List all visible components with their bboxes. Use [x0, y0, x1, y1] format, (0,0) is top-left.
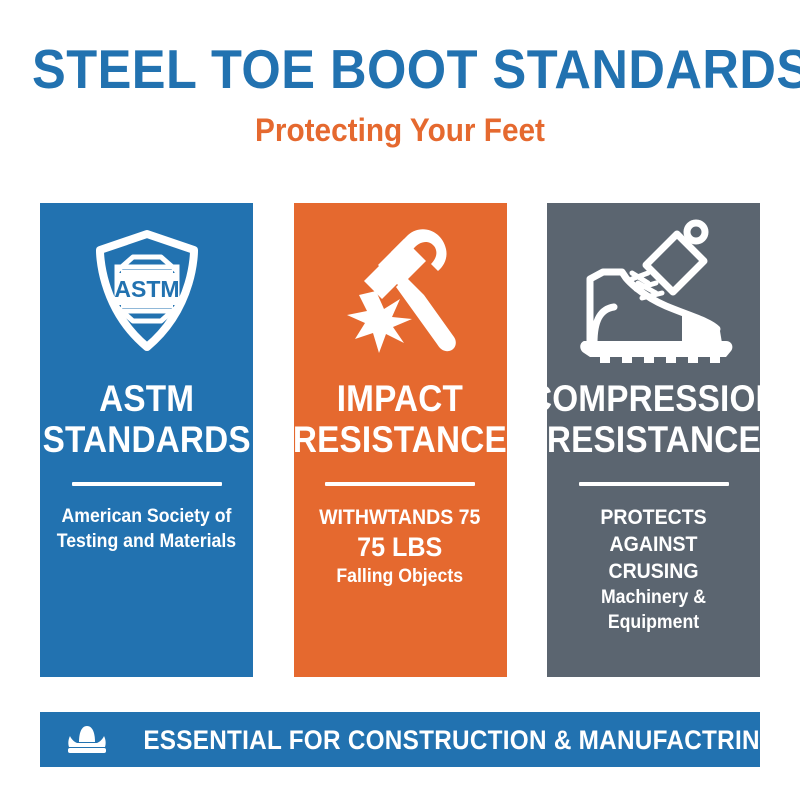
boot-weight-icon	[570, 217, 738, 365]
card-body-line: 75 LBS	[319, 531, 480, 564]
hammer-impact-icon	[334, 225, 466, 357]
card-heading: IMPACT RESISTANCE	[293, 378, 507, 460]
hard-hat-icon	[66, 724, 108, 756]
infographic-poster: STEEL TOE BOOT STANDARDS Protecting Your…	[0, 0, 800, 800]
card-astm-standards[interactable]: ASTM ASTM STANDARDS American Society of …	[40, 203, 253, 677]
card-heading: ASTM STANDARDS	[42, 378, 250, 460]
footer-banner: ESSENTIAL FOR CONSTRUCTION & MANUFACTRIN…	[40, 712, 760, 767]
card-body-line: American Society of Testing and Material…	[57, 504, 236, 554]
card-body: WITHWTANDS 75 75 LBS Falling Objects	[319, 504, 480, 589]
card-icon-slot	[304, 203, 497, 378]
card-body-line: Machinery & Equipment	[564, 585, 743, 635]
card-icon-slot	[557, 203, 750, 378]
card-icon-slot: ASTM	[50, 203, 243, 378]
card-body: PROTECTS AGAINST CRUSING Machinery & Equ…	[564, 504, 743, 635]
card-impact-resistance[interactable]: IMPACT RESISTANCE WITHWTANDS 75 75 LBS F…	[294, 203, 507, 677]
footer-text: ESSENTIAL FOR CONSTRUCTION & MANUFACTRIN…	[143, 725, 779, 755]
card-body-line: PROTECTS AGAINST CRUSING	[564, 504, 743, 585]
card-body: American Society of Testing and Material…	[57, 504, 236, 554]
header: STEEL TOE BOOT STANDARDS Protecting Your…	[0, 40, 800, 148]
card-compression-resistance[interactable]: COMPRESSION RESISTANCE PROTECTS AGAINST …	[547, 203, 760, 677]
card-divider	[579, 482, 729, 486]
card-body-line: WITHWTANDS 75	[319, 504, 480, 531]
card-row: ASTM ASTM STANDARDS American Society of …	[40, 203, 760, 677]
shield-astm-icon: ASTM	[91, 229, 203, 353]
page-title: STEEL TOE BOOT STANDARDS	[32, 40, 768, 98]
page-subtitle: Protecting Your Feet	[28, 112, 772, 148]
card-heading: COMPRESSION RESISTANCE	[528, 378, 780, 460]
card-divider	[72, 482, 222, 486]
card-body-line: Falling Objects	[319, 564, 480, 589]
shield-icon-label: ASTM	[114, 276, 179, 302]
card-divider	[325, 482, 475, 486]
